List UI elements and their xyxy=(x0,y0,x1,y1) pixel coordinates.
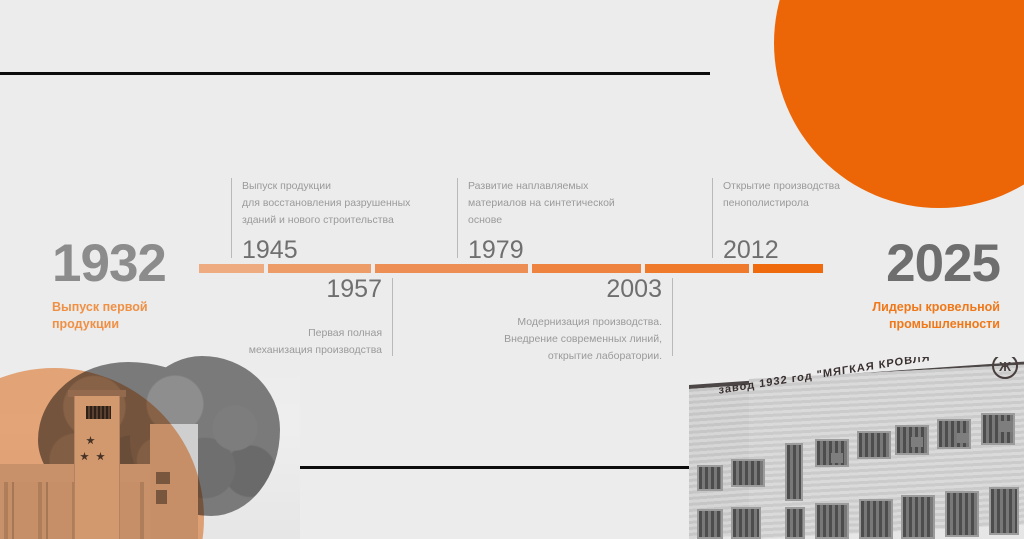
timeline-start-marker: 1932 Выпуск первой продукции xyxy=(52,237,166,333)
timeline-bar-segment-4 xyxy=(532,264,641,273)
timeline-graphic: 1932 Выпуск первой продукции 2025 Лидеры… xyxy=(0,0,1024,539)
timeline-bar xyxy=(199,264,827,273)
start-subtitle: Выпуск первой продукции xyxy=(52,299,166,333)
node-tick xyxy=(672,278,673,356)
node-description: Развитие наплавляемых материалов на синт… xyxy=(468,178,615,229)
node-description: Открытие производства пенополистирола xyxy=(723,178,840,212)
node-tick xyxy=(392,278,393,356)
node-year: 2003 xyxy=(606,277,662,302)
timeline-node-2012: Открытие производства пенополистирола 20… xyxy=(712,178,912,260)
end-subtitle: Лидеры кровельной промышленности xyxy=(872,299,1000,333)
node-tick xyxy=(457,178,458,258)
timeline-node-1957: 1957 Первая полная механизация производс… xyxy=(173,277,393,357)
timeline-bar-segment-5 xyxy=(645,264,749,273)
node-description: Выпуск продукции для восстановления разр… xyxy=(242,178,410,229)
node-year: 1979 xyxy=(468,238,524,263)
timeline-node-2003: 2003 Модернизация производства. Внедрени… xyxy=(453,277,673,357)
node-description: Первая полная механизация производства xyxy=(249,325,382,359)
start-year: 1932 xyxy=(52,237,166,290)
timeline-bar-segment-3 xyxy=(375,264,528,273)
node-tick xyxy=(712,178,713,258)
timeline-bar-segment-2 xyxy=(268,264,371,273)
node-year: 1957 xyxy=(326,277,382,302)
timeline-bar-segment-1 xyxy=(199,264,264,273)
node-year: 1945 xyxy=(242,238,298,263)
timeline-bar-segment-6 xyxy=(753,264,823,273)
node-tick xyxy=(231,178,232,258)
timeline-node-1979: Развитие наплавляемых материалов на синт… xyxy=(457,178,677,260)
node-description: Модернизация производства. Внедрение сов… xyxy=(504,314,662,365)
node-year: 2012 xyxy=(723,238,779,263)
timeline-node-1945: Выпуск продукции для восстановления разр… xyxy=(231,178,451,260)
